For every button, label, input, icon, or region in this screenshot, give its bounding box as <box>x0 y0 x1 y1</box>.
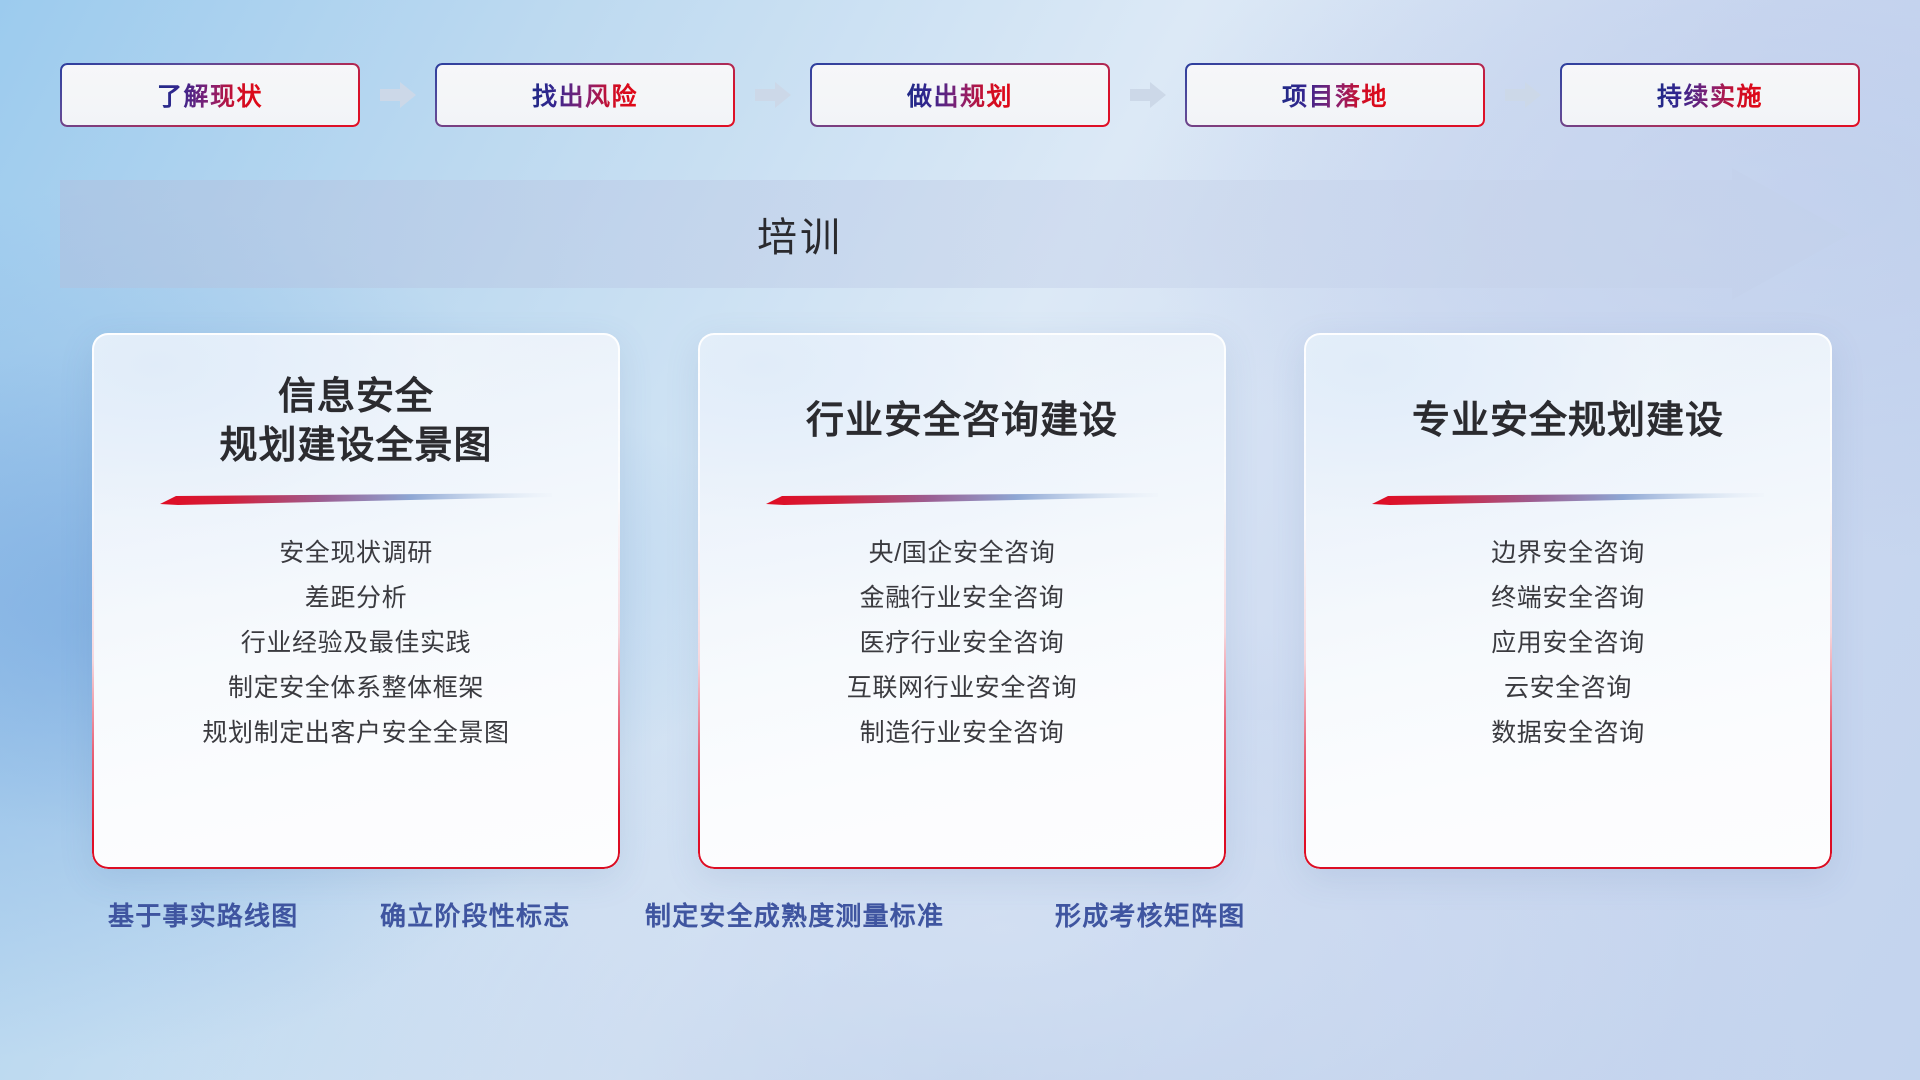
outcome-captions: 基于事实路线图 确立阶段性标志 制定安全成熟度测量标准 形成考核矩阵图 <box>0 896 1920 942</box>
outcome-caption: 制定安全成熟度测量标准 <box>645 896 944 933</box>
outcome-caption: 形成考核矩阵图 <box>1055 896 1245 933</box>
card-list-item: 制定安全体系整体框架 <box>92 668 620 713</box>
process-flow-steps: 了解现状 找出风险 做出规划 项目落地 <box>60 62 1860 128</box>
card-list-item: 央/国企安全咨询 <box>698 533 1226 578</box>
card-list-item: 应用安全咨询 <box>1304 623 1832 668</box>
card-list-item: 数据安全咨询 <box>1304 713 1832 758</box>
slide-canvas: 了解现状 找出风险 做出规划 项目落地 <box>0 0 1920 1080</box>
card-list-item: 边界安全咨询 <box>1304 533 1832 578</box>
chevron-right-arrow-icon <box>1128 80 1168 110</box>
capability-card[interactable]: 行业安全咨询建设 <box>698 333 1226 869</box>
process-step-5[interactable]: 持续实施 <box>1560 63 1860 127</box>
capability-cards: 信息安全 规划建设全景图 <box>92 333 1832 869</box>
card-divider-rule <box>1372 493 1764 505</box>
outcome-caption: 确立阶段性标志 <box>380 896 570 933</box>
card-list-item: 行业经验及最佳实践 <box>92 623 620 668</box>
card-item-list: 央/国企安全咨询 金融行业安全咨询 医疗行业安全咨询 互联网行业安全咨询 制造行… <box>698 533 1226 758</box>
card-list-item: 云安全咨询 <box>1304 668 1832 713</box>
process-step-2[interactable]: 找出风险 <box>435 63 735 127</box>
process-step-label: 项目落地 <box>1282 77 1388 113</box>
card-list-item: 终端安全咨询 <box>1304 578 1832 623</box>
process-step-label: 找出风险 <box>532 77 638 113</box>
chevron-right-arrow-icon <box>1503 80 1543 110</box>
card-list-item: 差距分析 <box>92 578 620 623</box>
card-title: 信息安全 规划建设全景图 <box>219 367 492 477</box>
process-step-label: 持续实施 <box>1657 77 1763 113</box>
process-step-4[interactable]: 项目落地 <box>1185 63 1485 127</box>
card-list-item: 互联网行业安全咨询 <box>698 668 1226 713</box>
card-list-item: 制造行业安全咨询 <box>698 713 1226 758</box>
card-list-item: 安全现状调研 <box>92 533 620 578</box>
chevron-right-arrow-icon <box>753 80 793 110</box>
chevron-right-arrow-icon <box>378 80 418 110</box>
capability-card[interactable]: 信息安全 规划建设全景图 <box>92 333 620 869</box>
process-step-3[interactable]: 做出规划 <box>810 63 1110 127</box>
card-list-item: 金融行业安全咨询 <box>698 578 1226 623</box>
card-list-item: 规划制定出客户安全全景图 <box>92 713 620 758</box>
outcome-caption: 基于事实路线图 <box>108 896 298 933</box>
card-title: 专业安全规划建设 <box>1412 367 1724 477</box>
card-divider-rule <box>766 493 1158 505</box>
card-divider-rule <box>160 493 552 505</box>
card-item-list: 安全现状调研 差距分析 行业经验及最佳实践 制定安全体系整体框架 规划制定出客户… <box>92 533 620 758</box>
process-step-label: 了解现状 <box>157 77 263 113</box>
card-title: 行业安全咨询建设 <box>806 367 1118 477</box>
process-step-label: 做出规划 <box>907 77 1013 113</box>
right-arrow-band-icon <box>60 168 1850 300</box>
card-list-item: 医疗行业安全咨询 <box>698 623 1226 668</box>
capability-card[interactable]: 专业安全规划建设 <box>1304 333 1832 869</box>
card-item-list: 边界安全咨询 终端安全咨询 应用安全咨询 云安全咨询 数据安全咨询 <box>1304 533 1832 758</box>
process-step-1[interactable]: 了解现状 <box>60 63 360 127</box>
